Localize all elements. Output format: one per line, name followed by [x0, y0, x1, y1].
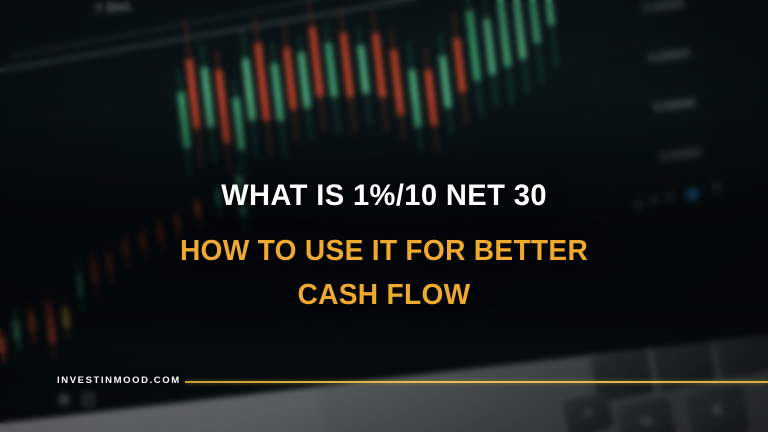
- featured-image-canvas: F4 % 6 1 Tag 3 Monate 7 Dez.: [0, 0, 768, 432]
- page-subtitle: HOW TO USE IT FOR BETTER CASH FLOW: [12, 229, 757, 317]
- page-subtitle-line-2: CASH FLOW: [12, 273, 757, 317]
- page-subtitle-line-1: HOW TO USE IT FOR BETTER: [12, 229, 757, 273]
- gold-divider: [185, 381, 768, 383]
- page-title: WHAT IS 1%/10 NET 30: [12, 181, 757, 211]
- text-overlay: WHAT IS 1%/10 NET 30 HOW TO USE IT FOR B…: [0, 0, 768, 432]
- site-url: INVESTINMOOD.COM: [57, 375, 181, 386]
